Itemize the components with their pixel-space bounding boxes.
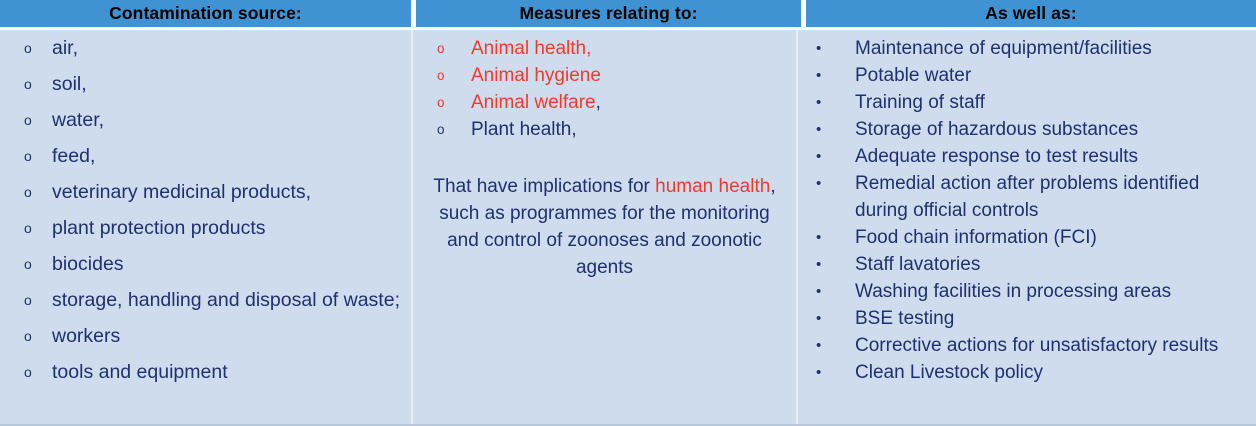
column-as-well-as: •Maintenance of equipment/facilities•Pot… — [798, 30, 1256, 424]
filled-bullet-icon: • — [808, 143, 855, 170]
hollow-circle-icon: o — [425, 89, 471, 116]
list-item-label: Food chain information (FCI) — [855, 224, 1246, 251]
list-item-label: water, — [52, 108, 401, 133]
filled-bullet-icon: • — [808, 170, 855, 197]
contamination-controls-table: Contamination source: Measures relating … — [0, 0, 1256, 426]
hollow-circle-icon: o — [14, 144, 52, 169]
column-measures-relating-to: oAnimal health,oAnimal hygieneoAnimal we… — [413, 30, 798, 424]
list-item: oAnimal hygiene — [425, 62, 784, 89]
list-item: •Remedial action after problems identifi… — [808, 170, 1246, 224]
list-item-label: veterinary medicinal products, — [52, 180, 401, 205]
hollow-circle-icon: o — [425, 35, 471, 62]
list-item-label: Clean Livestock policy — [855, 359, 1246, 386]
hollow-circle-icon: o — [425, 62, 471, 89]
list-item: •Training of staff — [808, 89, 1246, 116]
list-item: oAnimal health, — [425, 35, 784, 62]
list-item-label: tools and equipment — [52, 360, 401, 385]
list-item-label: biocides — [52, 252, 401, 277]
list-item: otools and equipment — [14, 360, 401, 385]
hollow-circle-icon: o — [14, 252, 52, 277]
list-item-label: Remedial action after problems identifie… — [855, 170, 1246, 224]
list-item-label: Plant health, — [471, 116, 784, 143]
list-item-label: storage, handling and disposal of waste; — [52, 288, 401, 313]
list-item: oworkers — [14, 324, 401, 349]
list-item-label: feed, — [52, 144, 401, 169]
filled-bullet-icon: • — [808, 278, 855, 305]
list-item: •Washing facilities in processing areas — [808, 278, 1246, 305]
hollow-circle-icon: o — [14, 288, 52, 313]
list-item: owater, — [14, 108, 401, 133]
hollow-circle-icon: o — [14, 108, 52, 133]
as-well-as-list: •Maintenance of equipment/facilities•Pot… — [808, 35, 1246, 386]
list-item: oplant protection products — [14, 216, 401, 241]
list-item-label: BSE testing — [855, 305, 1246, 332]
list-item-label: Potable water — [855, 62, 1246, 89]
list-item: •Maintenance of equipment/facilities — [808, 35, 1246, 62]
column-header-contamination-source: Contamination source: — [0, 0, 411, 27]
column-header-as-well-as: As well as: — [806, 0, 1256, 27]
hollow-circle-icon: o — [14, 36, 52, 61]
list-item: oveterinary medicinal products, — [14, 180, 401, 205]
list-item: •Adequate response to test results — [808, 143, 1246, 170]
list-item-label: workers — [52, 324, 401, 349]
table-body-row: oair,osoil,owater,ofeed,oveterinary medi… — [0, 27, 1256, 426]
measures-note-prefix: That have implications for — [433, 176, 655, 197]
list-item-label: Animal health, — [471, 35, 784, 62]
hollow-circle-icon: o — [14, 360, 52, 385]
list-item-label: soil, — [52, 72, 401, 97]
list-item: •BSE testing — [808, 305, 1246, 332]
list-item-label: Training of staff — [855, 89, 1246, 116]
list-item: ostorage, handling and disposal of waste… — [14, 288, 401, 313]
filled-bullet-icon: • — [808, 116, 855, 143]
list-item: •Storage of hazardous substances — [808, 116, 1246, 143]
hollow-circle-icon: o — [14, 180, 52, 205]
list-item: •Staff lavatories — [808, 251, 1246, 278]
list-item: obiocides — [14, 252, 401, 277]
table-header-row: Contamination source: Measures relating … — [0, 0, 1256, 27]
measures-list: oAnimal health,oAnimal hygieneoAnimal we… — [425, 35, 784, 143]
list-item-label: Washing facilities in processing areas — [855, 278, 1246, 305]
list-item: •Potable water — [808, 62, 1246, 89]
measures-note-highlight: human health — [655, 176, 770, 197]
measures-note-suffix: , — [770, 176, 775, 197]
list-item-label: Animal welfare, — [471, 89, 784, 116]
list-item-label: Adequate response to test results — [855, 143, 1246, 170]
hollow-circle-icon: o — [14, 216, 52, 241]
filled-bullet-icon: • — [808, 305, 855, 332]
list-item: oPlant health, — [425, 116, 784, 143]
measures-note: That have implications for human health,… — [429, 173, 780, 281]
list-item: oair, — [14, 36, 401, 61]
list-item: •Food chain information (FCI) — [808, 224, 1246, 251]
hollow-circle-icon: o — [14, 324, 52, 349]
column-header-measures-relating-to: Measures relating to: — [416, 0, 801, 27]
list-item-label: Corrective actions for unsatisfactory re… — [855, 332, 1246, 359]
contamination-source-list: oair,osoil,owater,ofeed,oveterinary medi… — [14, 36, 401, 385]
list-item-label: Animal hygiene — [471, 62, 784, 89]
measures-note-line2: such as programmes for the monitoring an… — [439, 203, 770, 278]
list-item-label: air, — [52, 36, 401, 61]
column-contamination-source: oair,osoil,owater,ofeed,oveterinary medi… — [0, 30, 413, 424]
list-item: osoil, — [14, 72, 401, 97]
list-item: •Corrective actions for unsatisfactory r… — [808, 332, 1246, 359]
list-item: oAnimal welfare, — [425, 89, 784, 116]
filled-bullet-icon: • — [808, 359, 855, 386]
list-item-label: Storage of hazardous substances — [855, 116, 1246, 143]
filled-bullet-icon: • — [808, 62, 855, 89]
list-item-label: Staff lavatories — [855, 251, 1246, 278]
filled-bullet-icon: • — [808, 89, 855, 116]
list-item: •Clean Livestock policy — [808, 359, 1246, 386]
list-item-label: plant protection products — [52, 216, 401, 241]
hollow-circle-icon: o — [425, 116, 471, 143]
list-item-trailing-punctuation: , — [596, 92, 601, 113]
list-item: ofeed, — [14, 144, 401, 169]
filled-bullet-icon: • — [808, 251, 855, 278]
filled-bullet-icon: • — [808, 332, 855, 359]
list-item-label: Maintenance of equipment/facilities — [855, 35, 1246, 62]
filled-bullet-icon: • — [808, 35, 855, 62]
filled-bullet-icon: • — [808, 224, 855, 251]
hollow-circle-icon: o — [14, 72, 52, 97]
